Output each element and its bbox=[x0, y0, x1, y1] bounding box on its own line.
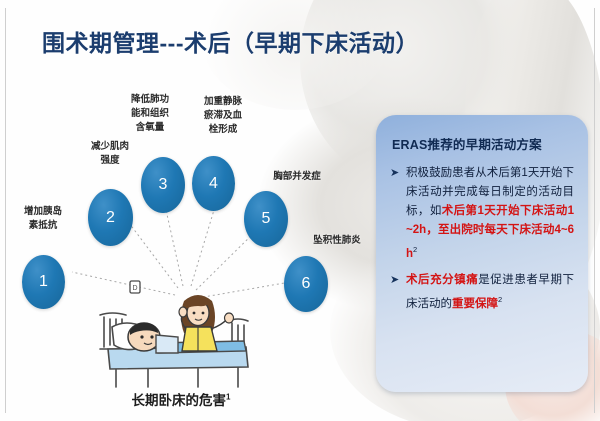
diagram-node-number: 1 bbox=[39, 273, 48, 291]
diagram-node-number: 6 bbox=[302, 275, 311, 293]
slide-border-right bbox=[594, 8, 595, 413]
diagram-node-6[interactable]: 6 bbox=[284, 256, 328, 312]
panel-bullet-item: ➤ 积极鼓励患者从术后第1天开始下床活动并完成每日制定的活动目标，如术后第1天开… bbox=[390, 164, 574, 264]
diagram-node-number: 5 bbox=[262, 210, 271, 228]
diagram-node-label-2: 减少肌肉 强度 bbox=[70, 140, 150, 168]
diagram-node-label-3: 降低肺功 能和组织 含氧量 bbox=[110, 93, 190, 134]
arrow-bullet-icon: ➤ bbox=[390, 271, 404, 290]
diagram-node-label-1: 增加胰岛 素抵抗 bbox=[4, 205, 82, 233]
patient-in-bed-illustration: D bbox=[86, 275, 276, 395]
panel-bullet-text-1: 积极鼓励患者从术后第1天开始下床活动并完成每日制定的活动目标，如术后第1天开始下… bbox=[406, 164, 574, 264]
diagram-node-4[interactable]: 4 bbox=[192, 156, 235, 211]
svg-text:D: D bbox=[132, 285, 137, 292]
diagram-caption-superscript: 1 bbox=[226, 393, 230, 402]
panel-title: ERAS推荐的早期活动方案 bbox=[392, 134, 574, 153]
diagram-node-number: 2 bbox=[106, 209, 115, 227]
panel-bullet-text-2: 术后充分镇痛是促进患者早期下床活动的重要保障2 bbox=[406, 271, 574, 314]
diagram-node-5[interactable]: 5 bbox=[244, 191, 288, 247]
diagram-caption-text: 长期卧床的危害 bbox=[132, 393, 227, 408]
diagram-caption: 长期卧床的危害1 bbox=[86, 389, 276, 409]
citation-superscript: 2 bbox=[498, 295, 502, 304]
highlighted-text: 术后充分镇痛 bbox=[406, 274, 478, 286]
slide-canvas: 围术期管理---术后（早期下床活动） 1 增加胰岛 素抵抗 2 减少肌肉 强度 … bbox=[0, 0, 600, 421]
diagram-node-label-6: 坠积性肺炎 bbox=[297, 234, 377, 248]
diagram-node-label-4: 加重静脉 瘀滞及血 栓形成 bbox=[183, 95, 263, 136]
radial-diagram: 1 增加胰岛 素抵抗 2 减少肌肉 强度 3 降低肺功 能和组织 含氧量 4 加… bbox=[0, 60, 375, 421]
diagram-node-2[interactable]: 2 bbox=[88, 189, 133, 246]
diagram-node-number: 3 bbox=[159, 176, 168, 194]
diagram-node-1[interactable]: 1 bbox=[22, 255, 65, 309]
page-title: 围术期管理---术后（早期下床活动） bbox=[42, 24, 419, 58]
diagram-node-label-5: 胸部并发症 bbox=[257, 170, 337, 184]
diagram-node-3[interactable]: 3 bbox=[141, 157, 185, 213]
highlighted-text: 重要保障 bbox=[452, 298, 498, 310]
citation-superscript: 2 bbox=[413, 245, 417, 254]
diagram-node-number: 4 bbox=[209, 175, 218, 193]
eras-recommendation-panel: ERAS推荐的早期活动方案 ➤ 积极鼓励患者从术后第1天开始下床活动并完成每日制… bbox=[376, 115, 588, 392]
arrow-bullet-icon: ➤ bbox=[390, 164, 404, 183]
panel-bullet-item: ➤ 术后充分镇痛是促进患者早期下床活动的重要保障2 bbox=[390, 271, 574, 314]
